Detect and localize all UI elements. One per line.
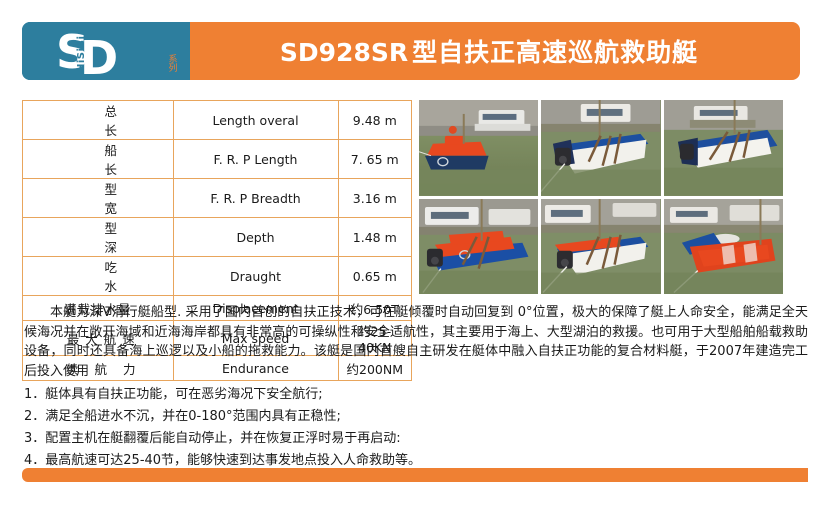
- photo-gallery: [419, 100, 783, 294]
- gallery-photo: [541, 100, 660, 196]
- table-row: 总 长 Length overal 9.48 m: [23, 101, 412, 140]
- gallery-photo: [541, 199, 660, 295]
- boat-righting-stage-1-image: [419, 199, 538, 295]
- series-char-2: 列: [168, 65, 178, 74]
- table-row: 型 宽 F. R. P Breadth 3.16 m: [23, 179, 412, 218]
- boat-capsized-180-image: [664, 100, 783, 196]
- spec-value: 7. 65 m: [338, 140, 411, 179]
- table-row: 船 长 F. R. P Length 7. 65 m: [23, 140, 412, 179]
- boat-heeled-90-left-image: [541, 100, 660, 196]
- feature-list: 1．艇体具有自扶正功能，可在恶劣海况下安全航行; 2．满足全船进水不沉，并在0-…: [24, 384, 808, 472]
- list-item: 3．配置主机在艇翻覆后能自动停止，并在恢复正浮时易于再启动:: [24, 428, 808, 450]
- spec-label-cn: 型 宽: [23, 179, 174, 218]
- description-paragraph: 本艇为深V滑行艇船型. 采用了国内首创的自扶正技术，可在艇倾覆时自动回复到 0°…: [24, 303, 808, 381]
- title-banner: SD928SR型自扶正高速巡航救助艇: [190, 22, 800, 80]
- gallery-photo: [664, 100, 783, 196]
- series-label: 系 列: [168, 56, 178, 74]
- page-header: S D HiSiBi 系 列 SD928SR型自扶正高速巡航救助艇: [22, 22, 800, 80]
- spec-label-cn: 型 深: [23, 218, 174, 257]
- product-brochure-page: S D HiSiBi 系 列 SD928SR型自扶正高速巡航救助艇 总 长 Le…: [0, 0, 830, 505]
- spec-label-cn: 吃 水: [23, 257, 174, 296]
- product-description: 本艇为深V滑行艇船型. 采用了国内首创的自扶正技术，可在艇倾覆时自动回复到 0°…: [24, 303, 808, 381]
- list-item: 2．满足全船进水不沉，并在0-180°范围内具有正稳性;: [24, 406, 808, 428]
- gallery-photo: [419, 100, 538, 196]
- table-row: 吃 水 Draught 0.65 m: [23, 257, 412, 296]
- spec-value: 9.48 m: [338, 101, 411, 140]
- svg-text:HiSiBi: HiSiBi: [76, 36, 87, 72]
- spec-value: 0.65 m: [338, 257, 411, 296]
- footer-accent-bar: [22, 468, 808, 482]
- boat-righting-stage-2-image: [541, 199, 660, 295]
- gallery-photo: [419, 199, 538, 295]
- boat-righting-stage-3-image: [664, 199, 783, 295]
- spec-value: 1.48 m: [338, 218, 411, 257]
- table-row: 型 深 Depth 1.48 m: [23, 218, 412, 257]
- spec-label-cn: 总 长: [23, 101, 174, 140]
- page-title: SD928SR型自扶正高速巡航救助艇: [280, 33, 698, 69]
- spec-value: 3.16 m: [338, 179, 411, 218]
- boat-upright-starboard-image: [419, 100, 538, 196]
- brand-logo: S D HiSiBi 系 列: [22, 22, 190, 80]
- sd-logo-icon: S D HiSiBi: [22, 22, 190, 80]
- gallery-photo: [664, 199, 783, 295]
- list-item: 1．艇体具有自扶正功能，可在恶劣海况下安全航行;: [24, 384, 808, 406]
- title-suffix: 型自扶正高速巡航救助艇: [412, 38, 698, 67]
- model-code: SD928SR: [280, 38, 408, 67]
- spec-label-cn: 船 长: [23, 140, 174, 179]
